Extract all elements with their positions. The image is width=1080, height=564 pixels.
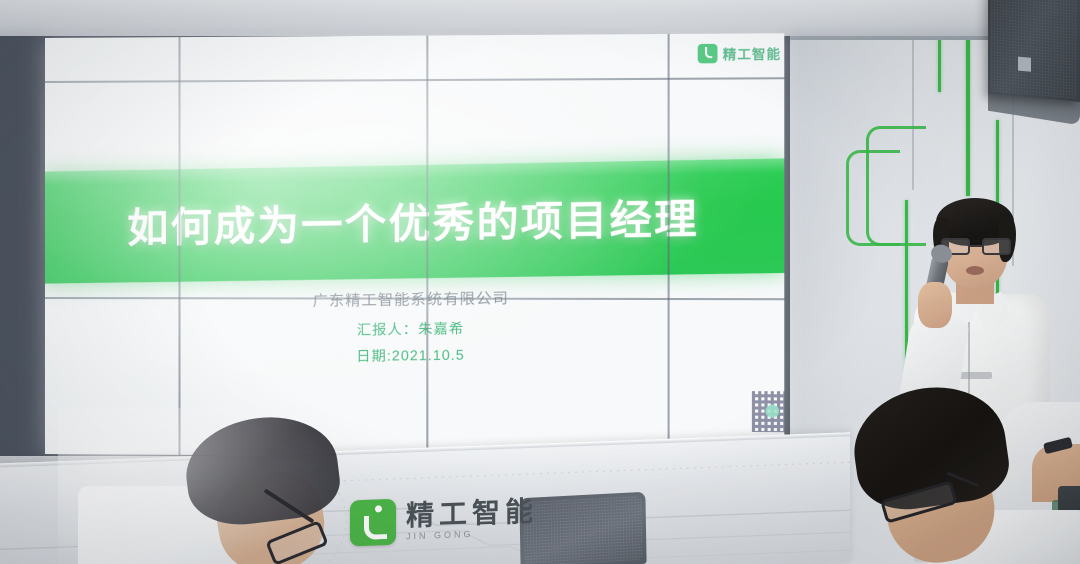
video-wall-display[interactable]: 精工智能 如何成为一个优秀的项目经理 广东精工智能系统有限公司 汇报人：朱嘉希 …	[45, 33, 784, 459]
ceiling-speaker-icon	[988, 0, 1080, 102]
display-bezel-seam	[668, 34, 670, 458]
chair-mesh	[523, 496, 642, 564]
seated-attendee-left	[78, 418, 346, 564]
speaker-label	[1018, 57, 1031, 72]
band-sheen	[45, 158, 784, 185]
ceiling-soffit	[0, 0, 1010, 40]
presentation-slide: 精工智能 如何成为一个优秀的项目经理 广东精工智能系统有限公司 汇报人：朱嘉希 …	[45, 33, 784, 459]
speaker-grill	[991, 0, 1077, 99]
seated-attendee-right	[846, 382, 1080, 564]
slide-logo-text: 精工智能	[723, 43, 781, 63]
presenter-hand	[918, 282, 952, 328]
jingong-logo-icon	[350, 499, 396, 547]
jingong-logo-icon	[698, 44, 718, 64]
display-bezel-seam	[178, 37, 180, 455]
presentation-photo-scene: 精工智能 如何成为一个优秀的项目经理 广东精工智能系统有限公司 汇报人：朱嘉希 …	[0, 0, 1080, 564]
slide-presenter-line: 汇报人：朱嘉希	[45, 314, 784, 344]
slide-corner-logo: 精工智能	[698, 43, 781, 63]
presenter-mouth	[966, 266, 984, 275]
glasses-bridge	[970, 245, 982, 247]
podium-logo-words: 精工智能 JIN GONG	[406, 497, 538, 541]
podium-brand-logo: 精工智能 JIN GONG	[350, 494, 538, 547]
wall-accent-bracket	[846, 150, 900, 246]
office-chair	[519, 492, 646, 564]
qr-code-icon[interactable]	[752, 391, 784, 432]
slide-title: 如何成为一个优秀的项目经理	[45, 183, 784, 256]
display-bezel-seam	[426, 36, 428, 457]
glasses-lens-right	[982, 238, 1011, 255]
slide-date-line: 日期:2021.10.5	[45, 340, 784, 369]
